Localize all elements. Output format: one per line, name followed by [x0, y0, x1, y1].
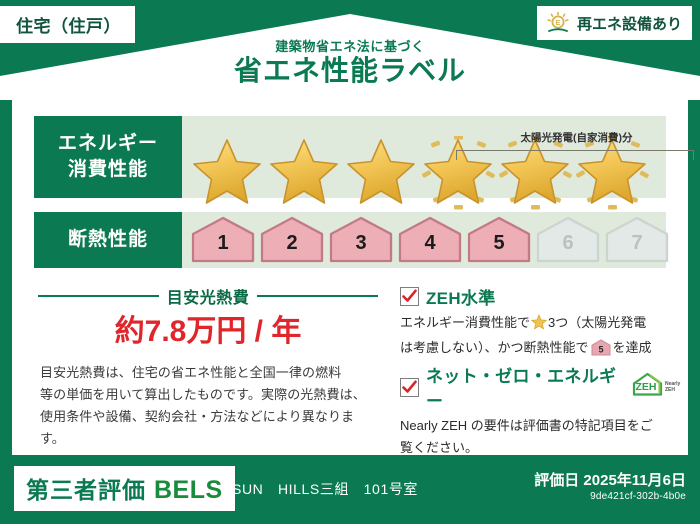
insulation-grade-7: 7	[604, 216, 670, 264]
energy-star-icon	[266, 136, 342, 210]
cost-rule-left	[38, 295, 159, 297]
net-zero-title: ネット・ゼロ・エネルギー	[426, 362, 621, 412]
energy-label-line1: エネルギー	[58, 131, 158, 157]
label-header: 住宅（住戸） 建築物省エネ法に基づく 省エネ性能ラベル E 再エネ設備あり	[0, 0, 700, 100]
insulation-label-text: 断熱性能	[68, 227, 148, 253]
cost-note-line3: 使用条件や設備、契約会社・方法などにより異なります。	[40, 406, 378, 450]
inline-star-icon	[531, 318, 547, 333]
energy-cost-heading: 目安光熱費	[38, 284, 378, 308]
cost-note-line1: 目安光熱費は、住宅の省エネ性能と全国一律の燃料	[40, 362, 378, 384]
label-footer: 第三者評価 BELS SUN HILLS三組 101号室 評価日 2025年11…	[0, 455, 700, 524]
zeh-body-a: エネルギー消費性能で	[400, 315, 530, 330]
bels-certification-chip: 第三者評価 BELS	[14, 466, 235, 511]
renewable-badge-label: 再エネ設備あり	[577, 13, 682, 34]
insulation-grade-value: 2	[259, 232, 325, 255]
net-zero-energy-block: ネット・ゼロ・エネルギー ZEH Nearly ZEH Nearly ZEH の…	[400, 362, 684, 459]
zeh-standard-heading: ZEH水準	[400, 284, 684, 309]
svg-text:E: E	[556, 20, 561, 27]
category-chip: 住宅（住戸）	[0, 6, 135, 43]
cost-rule-right	[257, 295, 378, 297]
zeh-standard-block: ZEH水準 エネルギー消費性能で3つ（太陽光発電 は考慮しない）、かつ断熱性能で…	[400, 284, 684, 363]
inline-grade-badge: 5	[591, 344, 611, 359]
cost-heading-text: 目安光熱費	[167, 284, 250, 308]
third-party-label: 第三者評価	[26, 471, 146, 505]
building-name: SUN HILLS三組 101号室	[232, 479, 418, 499]
net-zero-checkbox[interactable]	[400, 378, 419, 397]
cost-note-line2: 等の単価を用いて算出したものです。実際の光熱費は、	[40, 384, 378, 406]
insulation-grade-value: 6	[535, 232, 601, 255]
net-zero-heading: ネット・ゼロ・エネルギー ZEH Nearly ZEH	[400, 362, 684, 412]
zeh-house-logo: ZEH Nearly ZEH	[632, 372, 684, 403]
energy-performance-row: エネルギー 消費性能 太陽光発電(自家消費)分	[34, 116, 666, 198]
insulation-grade-value: 3	[328, 232, 394, 255]
net-zero-body: Nearly ZEH の要件は評価書の特記項目をご 覧ください。	[400, 415, 684, 459]
energy-cost-note: 目安光熱費は、住宅の省エネ性能と全国一律の燃料 等の単価を用いて算出したものです…	[40, 362, 378, 450]
insulation-grade-scale: 1234567	[190, 216, 670, 264]
energy-star-icon	[189, 136, 265, 210]
zeh-standard-body: エネルギー消費性能で3つ（太陽光発電 は考慮しない）、かつ断熱性能で5を達成	[400, 312, 684, 363]
insulation-grade-6: 6	[535, 216, 601, 264]
svg-text:ZEH: ZEH	[636, 381, 657, 393]
insulation-grade-1: 1	[190, 216, 256, 264]
zeh-body-b: 3つ（太陽光発電	[548, 315, 646, 330]
insulation-grade-3: 3	[328, 216, 394, 264]
zeh-body-c: は考慮しない）、かつ断熱性能で	[400, 340, 589, 355]
solar-sun-icon: E	[545, 11, 571, 35]
zeh-standard-title: ZEH水準	[426, 284, 496, 309]
energy-star-icon	[343, 136, 419, 210]
insulation-grade-4: 4	[397, 216, 463, 264]
insulation-grade-5: 5	[466, 216, 532, 264]
energy-cost-value: 約7.8万円 / 年	[38, 306, 378, 350]
net-zero-body-line1: Nearly ZEH の要件は評価書の特記項目をご	[400, 415, 684, 437]
insulation-performance-row: 断熱性能 1234567	[34, 212, 666, 268]
title-block: 建築物省エネ法に基づく 省エネ性能ラベル	[0, 40, 700, 87]
zeh-body-d: を達成	[613, 340, 652, 355]
insulation-performance-label: 断熱性能	[34, 212, 182, 268]
svg-text:ZEH: ZEH	[665, 387, 675, 393]
evaluation-id: 9de421cf-302b-4b0e	[590, 491, 686, 502]
bels-logo-text: BELS	[154, 476, 223, 505]
svg-text:5: 5	[598, 344, 603, 354]
insulation-grade-2: 2	[259, 216, 325, 264]
evaluation-date: 評価日 2025年11月6日	[534, 469, 686, 490]
page-title: 省エネ性能ラベル	[0, 55, 700, 87]
energy-performance-label: エネルギー 消費性能	[34, 116, 182, 198]
solar-bracket-label: 太陽光発電(自家消費)分	[464, 130, 689, 145]
zeh-standard-checkbox[interactable]	[400, 287, 419, 306]
insulation-grade-value: 7	[604, 232, 670, 255]
insulation-grade-value: 5	[466, 232, 532, 255]
renewable-equipment-badge: E 再エネ設備あり	[537, 6, 692, 40]
energy-label-line2: 消費性能	[68, 157, 148, 183]
insulation-grade-value: 1	[190, 232, 256, 255]
insulation-grade-value: 4	[397, 232, 463, 255]
label-body-card: エネルギー 消費性能 太陽光発電(自家消費)分 断熱性能 1234567 目安光…	[12, 100, 688, 455]
